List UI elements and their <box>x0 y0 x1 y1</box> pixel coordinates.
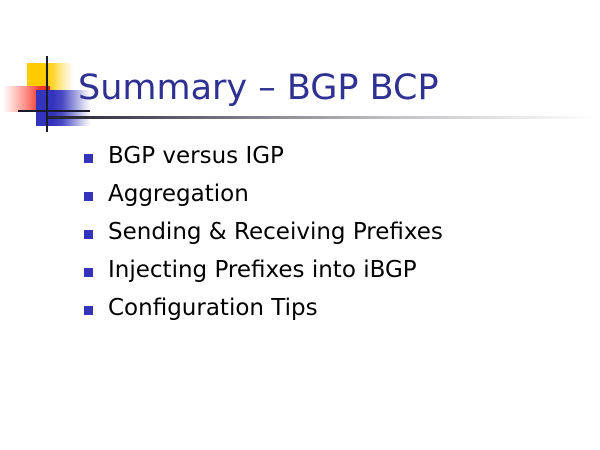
square-bullet-icon <box>84 154 93 163</box>
logo-vertical-rule-icon <box>46 56 48 132</box>
title-underline-divider <box>48 116 600 119</box>
list-item: Aggregation <box>84 175 584 213</box>
list-item: Configuration Tips <box>84 289 584 327</box>
list-item-label: Configuration Tips <box>108 295 318 322</box>
square-bullet-icon <box>84 306 93 315</box>
list-item: BGP versus IGP <box>84 137 584 175</box>
logo-horizontal-rule-icon <box>18 110 90 112</box>
list-item-label: Sending & Receiving Prefixes <box>108 219 443 246</box>
list-item: Sending & Receiving Prefixes <box>84 213 584 251</box>
square-bullet-icon <box>84 230 93 239</box>
list-item-label: BGP versus IGP <box>108 143 284 170</box>
slide-canvas: Summary – BGP BCP BGP versus IGP Aggrega… <box>0 0 600 450</box>
list-item-label: Injecting Prefixes into iBGP <box>108 257 417 284</box>
slide-title: Summary – BGP BCP <box>78 68 439 108</box>
list-item-label: Aggregation <box>108 181 249 208</box>
square-bullet-icon <box>84 192 93 201</box>
list-item: Injecting Prefixes into iBGP <box>84 251 584 289</box>
square-bullet-icon <box>84 268 93 277</box>
bullet-list: BGP versus IGP Aggregation Sending & Rec… <box>84 137 584 327</box>
